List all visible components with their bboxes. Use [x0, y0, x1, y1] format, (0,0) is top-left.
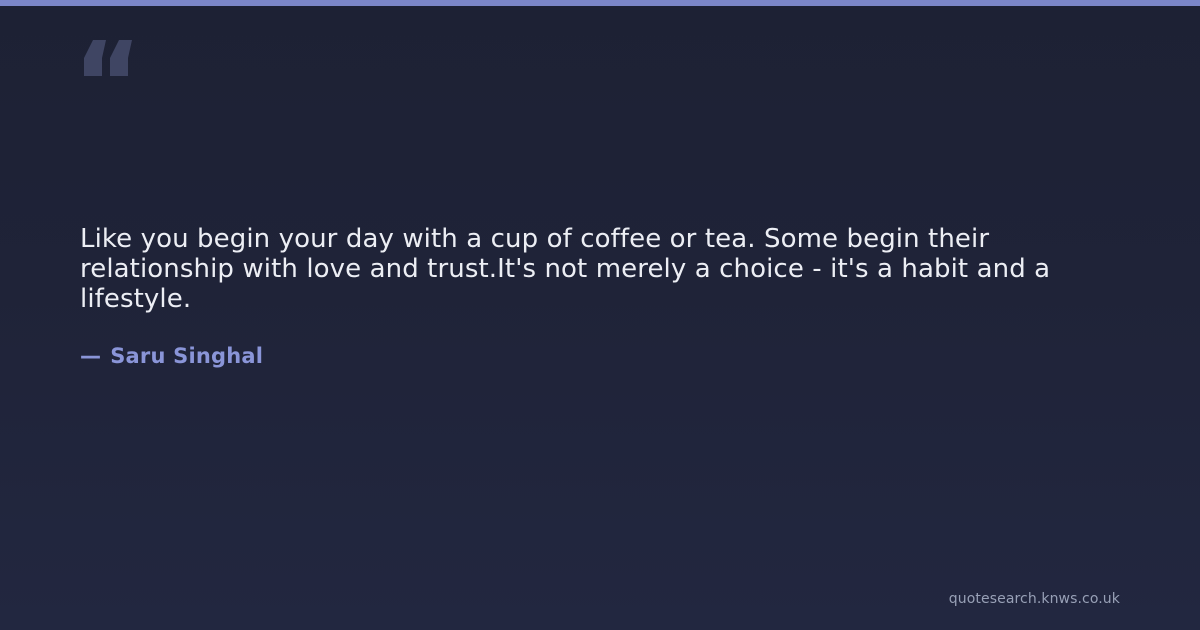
- top-accent-bar: [0, 0, 1200, 6]
- quote-text: Like you begin your day with a cup of co…: [80, 224, 1090, 314]
- quote-card: Like you begin your day with a cup of co…: [0, 0, 1200, 630]
- quote-attribution: — Saru Singhal: [80, 314, 1090, 368]
- double-quote-open-icon: [80, 22, 140, 86]
- quote-content: Like you begin your day with a cup of co…: [80, 224, 1090, 368]
- quote-author: Saru Singhal: [110, 344, 263, 368]
- attribution-dash: —: [80, 344, 101, 368]
- site-watermark: quotesearch.knws.co.uk: [949, 591, 1120, 607]
